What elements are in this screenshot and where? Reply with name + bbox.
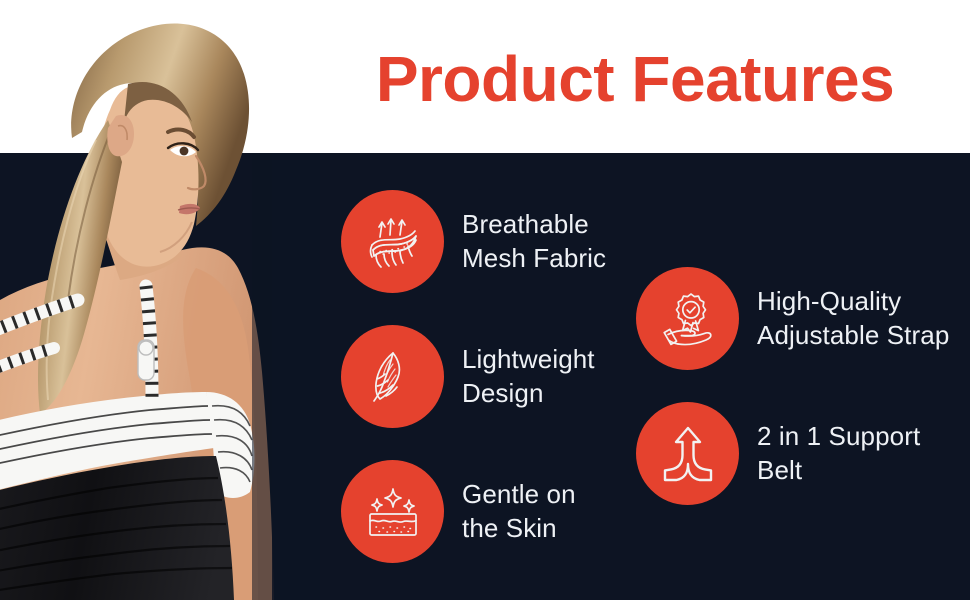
feature-breathable-mesh-fabric[interactable]: Breathable Mesh Fabric [341, 190, 606, 293]
feather-icon [363, 347, 423, 407]
product-photo [0, 0, 320, 600]
feature-label: Lightweight Design [462, 343, 595, 410]
merging-arrow-up-icon [659, 424, 717, 484]
product-features-banner: Product Features [0, 0, 970, 600]
model-photo-illustration [0, 0, 320, 600]
feature-two-in-one-support-belt[interactable]: 2 in 1 Support Belt [636, 402, 920, 505]
hand-quality-badge-icon [657, 289, 719, 349]
feature-label: Gentle on the Skin [462, 478, 576, 545]
page-title: Product Features [345, 38, 925, 120]
feature-icon-circle [341, 190, 444, 293]
feature-high-quality-adjustable-strap[interactable]: High-Quality Adjustable Strap [636, 267, 949, 370]
feature-icon-circle [341, 325, 444, 428]
skin-sparkle-icon [362, 483, 424, 541]
breathable-fabric-icon [362, 211, 424, 273]
feature-gentle-on-the-skin[interactable]: Gentle on the Skin [341, 460, 576, 563]
feature-icon-circle [636, 402, 739, 505]
feature-label: High-Quality Adjustable Strap [757, 285, 949, 352]
feature-label: 2 in 1 Support Belt [757, 420, 920, 487]
feature-icon-circle [341, 460, 444, 563]
feature-label: Breathable Mesh Fabric [462, 208, 606, 275]
feature-lightweight-design[interactable]: Lightweight Design [341, 325, 595, 428]
feature-icon-circle [636, 267, 739, 370]
